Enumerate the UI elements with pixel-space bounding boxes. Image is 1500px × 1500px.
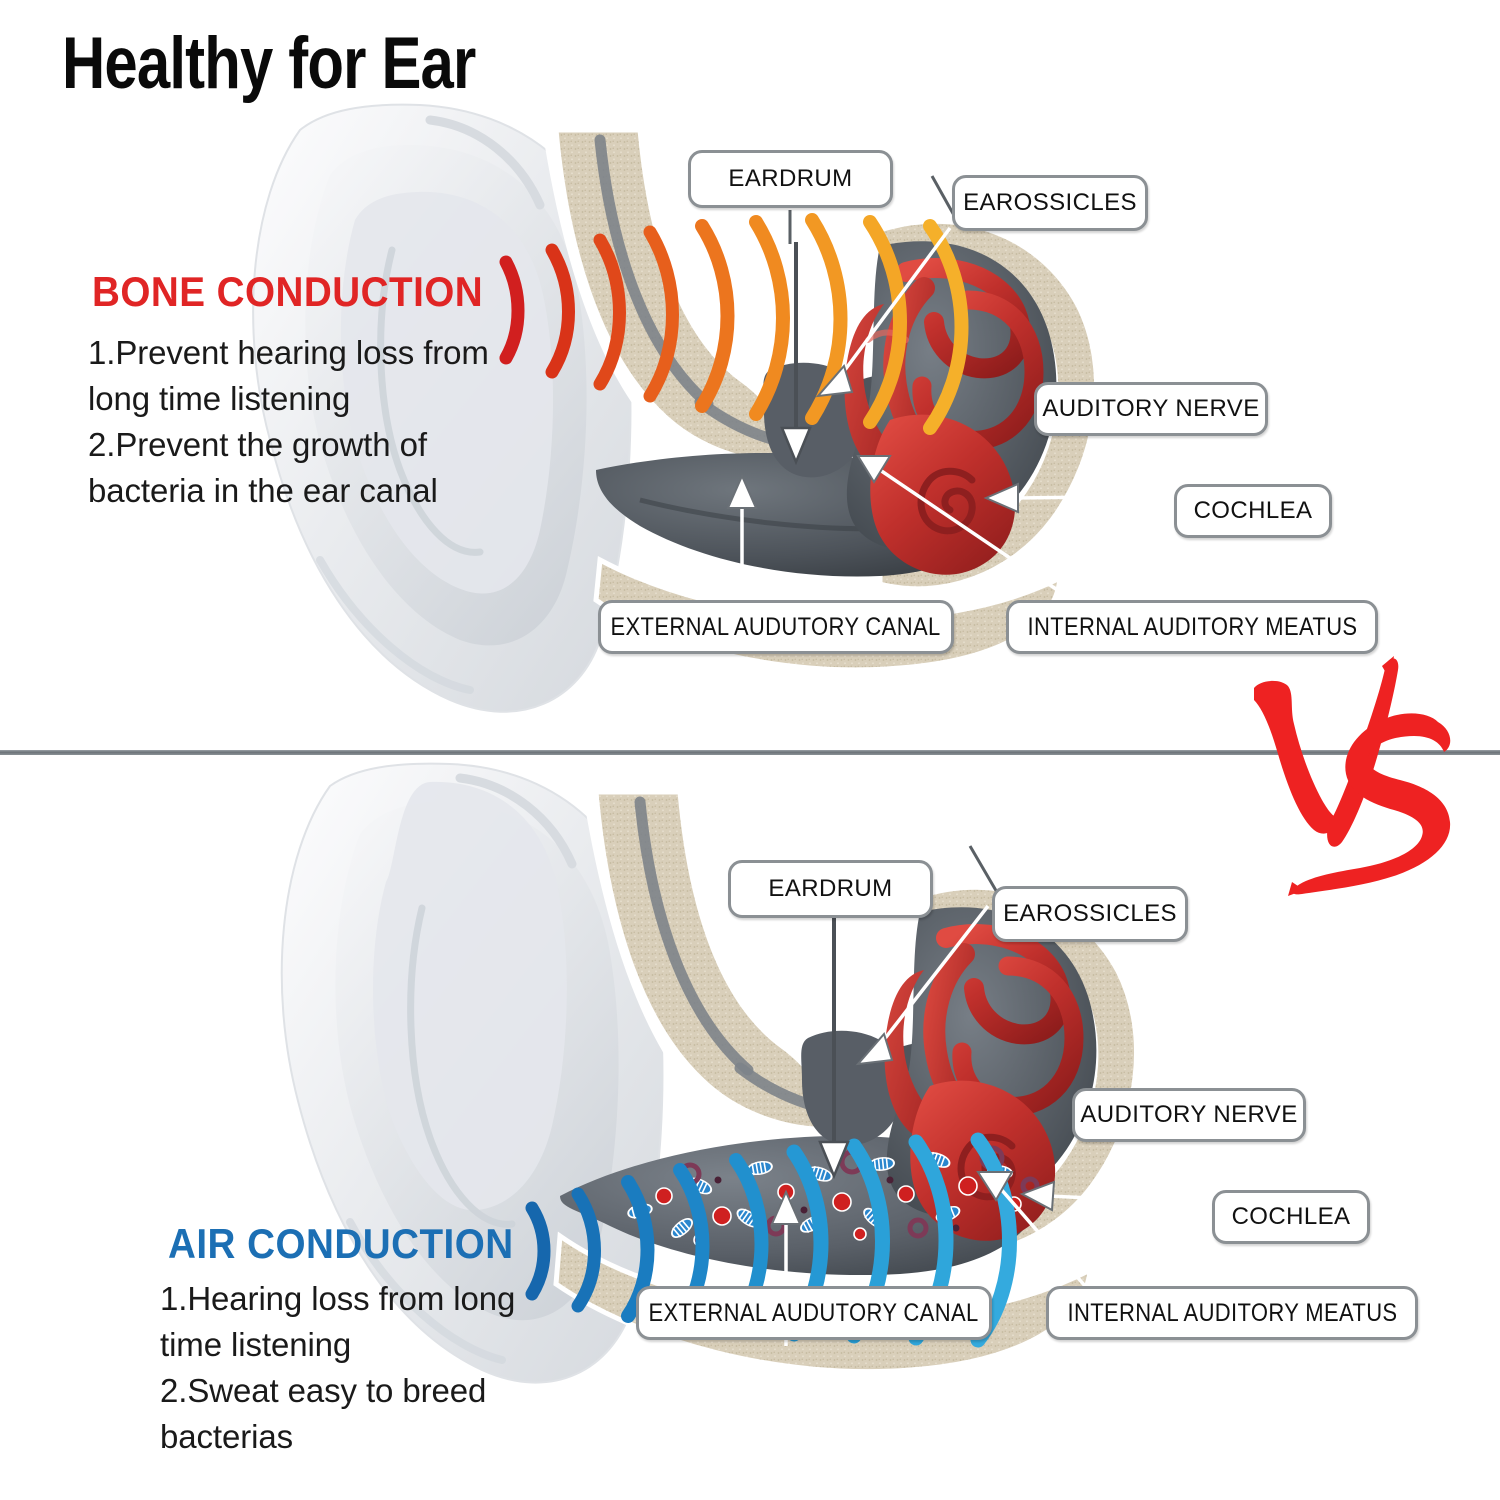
label-earossicles[interactable]: EAROSSICLES xyxy=(992,886,1188,942)
bullet-line: bacterias xyxy=(160,1414,515,1460)
label-internal-auditory-meatus[interactable]: INTERNAL AUDITORY MEATUS xyxy=(1006,600,1378,654)
label-eardrum[interactable]: EARDRUM xyxy=(728,860,933,918)
label-text: INTERNAL AUDITORY MEATUS xyxy=(1067,1299,1397,1328)
panel-bone-conduction: BONE CONDUCTION 1.Prevent hearing loss f… xyxy=(0,0,1500,753)
label-auditory-nerve[interactable]: AUDITORY NERVE xyxy=(1072,1088,1306,1142)
label-cochlea[interactable]: COCHLEA xyxy=(1212,1190,1370,1244)
label-eardrum[interactable]: EARDRUM xyxy=(688,150,893,208)
label-text: EXTERNAL AUDUTORY CANAL xyxy=(649,1299,979,1328)
label-earossicles[interactable]: EAROSSICLES xyxy=(952,175,1148,231)
bullet-line: 1.Hearing loss from long xyxy=(160,1276,515,1322)
bullet-line: long time listening xyxy=(88,376,489,422)
label-external-auditory-canal[interactable]: EXTERNAL AUDUTORY CANAL xyxy=(598,600,954,654)
bullet-line: 1.Prevent hearing loss from xyxy=(88,330,489,376)
page-title: Healthy for Ear xyxy=(62,24,476,104)
infographic-root: Healthy for Ear xyxy=(0,0,1500,1500)
bullets-bone-conduction: 1.Prevent hearing loss from long time li… xyxy=(88,330,489,514)
label-internal-auditory-meatus[interactable]: INTERNAL AUDITORY MEATUS xyxy=(1046,1286,1418,1340)
heading-bone-conduction: BONE CONDUCTION xyxy=(92,268,483,316)
bullet-line: 2.Sweat easy to breed xyxy=(160,1368,515,1414)
vs-badge-icon xyxy=(1232,650,1482,900)
label-text: EXTERNAL AUDUTORY CANAL xyxy=(611,613,941,642)
bullet-line: 2.Prevent the growth of xyxy=(88,422,489,468)
label-external-auditory-canal[interactable]: EXTERNAL AUDUTORY CANAL xyxy=(636,1286,992,1340)
bullets-air-conduction: 1.Hearing loss from long time listening … xyxy=(160,1276,515,1460)
label-cochlea[interactable]: COCHLEA xyxy=(1174,484,1332,538)
heading-air-conduction: AIR CONDUCTION xyxy=(168,1220,514,1268)
label-text: INTERNAL AUDITORY MEATUS xyxy=(1027,613,1357,642)
bullet-line: bacteria in the ear canal xyxy=(88,468,489,514)
label-auditory-nerve[interactable]: AUDITORY NERVE xyxy=(1034,382,1268,436)
bullet-line: time listening xyxy=(160,1322,515,1368)
